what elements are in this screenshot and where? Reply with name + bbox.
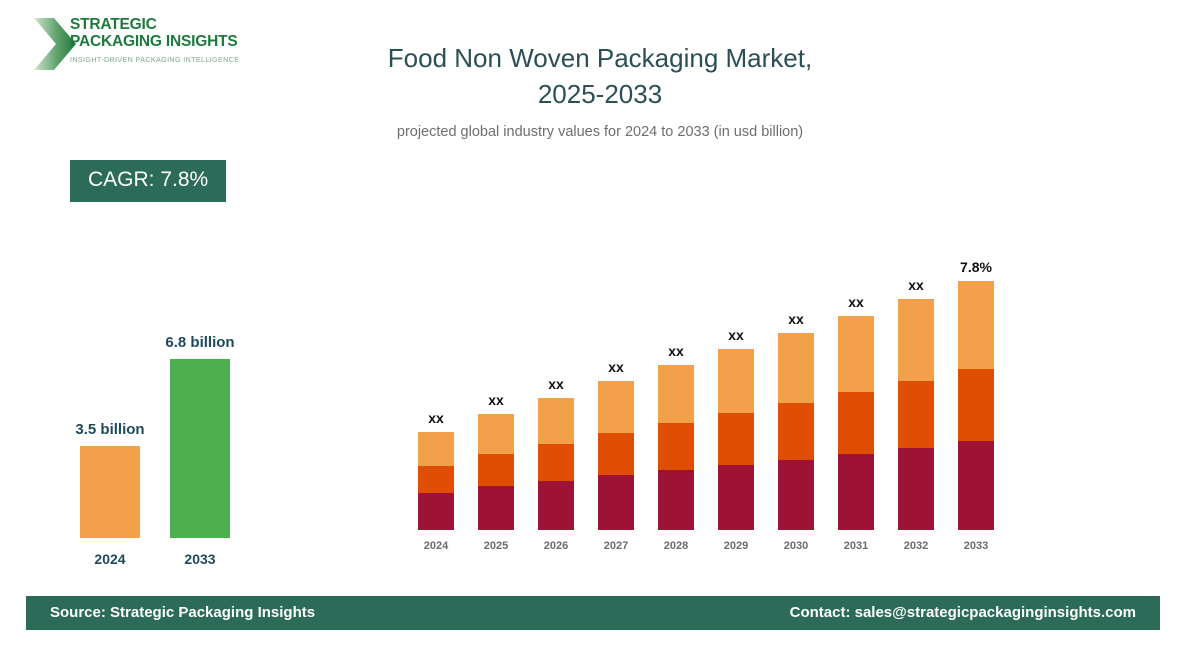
stacked-bar-value-label: 7.8% [936,259,1016,275]
stacked-bar-column: xx2025 [478,414,514,530]
stacked-bar-segment-segment-bottom [598,475,634,530]
cagr-badge: CAGR: 7.8% [70,160,226,202]
stacked-bar-segment-segment-top [718,349,754,413]
stacked-bar-segment-segment-bottom [658,470,694,530]
stacked-bar-segment-segment-top [898,299,934,381]
footer-bar: Source: Strategic Packaging Insights Con… [26,596,1160,630]
mini-bar-2033 [170,359,230,538]
stacked-bar-column: xx2031 [838,316,874,530]
chart-subtitle: projected global industry values for 202… [300,124,900,140]
stacked-bar-segment-segment-middle [778,403,814,460]
stacked-bar-year-label: 2026 [528,540,584,552]
stacked-bar-segment-segment-bottom [418,493,454,530]
mini-bar-year-label: 2024 [80,551,140,567]
stacked-bar-segment-segment-middle [598,433,634,475]
stacked-bar-value-label: xx [696,327,776,343]
stacked-bar-segment-segment-bottom [838,454,874,530]
stacked-bar-segment-segment-bottom [958,441,994,530]
mini-bar-value-label: 6.8 billion [120,334,280,351]
stacked-bar-year-label: 2030 [768,540,824,552]
mini-bar-year-label: 2033 [170,551,230,567]
stacked-bar-segment-segment-top [658,365,694,423]
stacked-bar-value-label: xx [456,392,536,408]
logo-line-1: STRATEGIC [70,16,239,33]
stacked-bar-value-label: xx [876,277,956,293]
stacked-bar-column: 7.8%2033 [958,281,994,530]
stacked-bar-segment-segment-top [418,432,454,466]
stacked-forecast-chart: xx2024xx2025xx2026xx2027xx2028xx2029xx20… [400,195,1020,555]
stacked-bar-year-label: 2029 [708,540,764,552]
stacked-bar-year-label: 2028 [648,540,704,552]
stacked-bar-segment-segment-top [478,414,514,454]
footer-contact-label: Contact: sales@strategicpackaginginsight… [790,604,1136,621]
stacked-bar-column: xx2028 [658,365,694,530]
mini-bar-value-label: 3.5 billion [30,421,190,438]
mini-bar-column: 3.5 billion2024 [80,446,140,538]
title-line-1: Food Non Woven Packaging Market, [300,40,900,76]
logo-wordmark: STRATEGIC PACKAGING INSIGHTS INSIGHT-DRI… [70,16,239,65]
stacked-bar-value-label: xx [396,410,476,426]
stacked-bar-value-label: xx [576,359,656,375]
stacked-bar-year-label: 2032 [888,540,944,552]
logo-line-2: PACKAGING INSIGHTS [70,33,239,50]
stacked-bar-segment-segment-bottom [898,448,934,530]
stacked-bar-column: xx2030 [778,333,814,530]
page-title: Food Non Woven Packaging Market, 2025-20… [300,40,900,140]
stacked-bar-value-label: xx [516,376,596,392]
stacked-bar-segment-segment-middle [838,392,874,454]
stacked-bar-segment-segment-top [958,281,994,369]
mini-bar-column: 6.8 billion2033 [170,359,230,538]
title-line-2: 2025-2033 [300,76,900,112]
stacked-bar-segment-segment-middle [898,381,934,448]
stacked-bar-column: xx2027 [598,381,634,530]
stacked-bar-value-label: xx [816,294,896,310]
stacked-bar-column: xx2024 [418,432,454,530]
brand-logo: STRATEGIC PACKAGING INSIGHTS INSIGHT-DRI… [30,14,330,76]
stacked-bar-segment-segment-top [538,398,574,444]
footer-source-label: Source: Strategic Packaging Insights [50,604,315,621]
summary-comparison-chart: 3.5 billion20246.8 billion2033 [50,300,290,570]
stacked-bar-year-label: 2031 [828,540,884,552]
stacked-bar-segment-segment-top [838,316,874,392]
stacked-bar-segment-segment-bottom [538,481,574,530]
stacked-bar-column: xx2032 [898,299,934,530]
stacked-bar-segment-segment-middle [478,454,514,486]
stacked-bar-segment-segment-middle [538,444,574,481]
stacked-bar-year-label: 2025 [468,540,524,552]
stacked-bar-year-label: 2033 [948,540,1004,552]
logo-tagline: INSIGHT-DRIVEN PACKAGING INTELLIGENCE [70,55,239,65]
stacked-bar-segment-segment-bottom [478,486,514,530]
stacked-bar-column: xx2026 [538,398,574,530]
stacked-bar-segment-segment-middle [418,466,454,493]
stacked-bar-segment-segment-middle [658,423,694,470]
stacked-bar-year-label: 2027 [588,540,644,552]
stacked-bar-segment-segment-top [598,381,634,433]
stacked-bar-column: xx2029 [718,349,754,530]
stacked-bar-segment-segment-bottom [778,460,814,530]
stacked-bar-segment-segment-middle [958,369,994,441]
stacked-bar-value-label: xx [636,343,716,359]
stacked-bar-year-label: 2024 [408,540,464,552]
stacked-bar-value-label: xx [756,311,836,327]
stacked-bar-segment-segment-bottom [718,465,754,530]
stacked-bar-segment-segment-middle [718,413,754,465]
mini-bar-2024 [80,446,140,538]
stacked-bar-segment-segment-top [778,333,814,403]
